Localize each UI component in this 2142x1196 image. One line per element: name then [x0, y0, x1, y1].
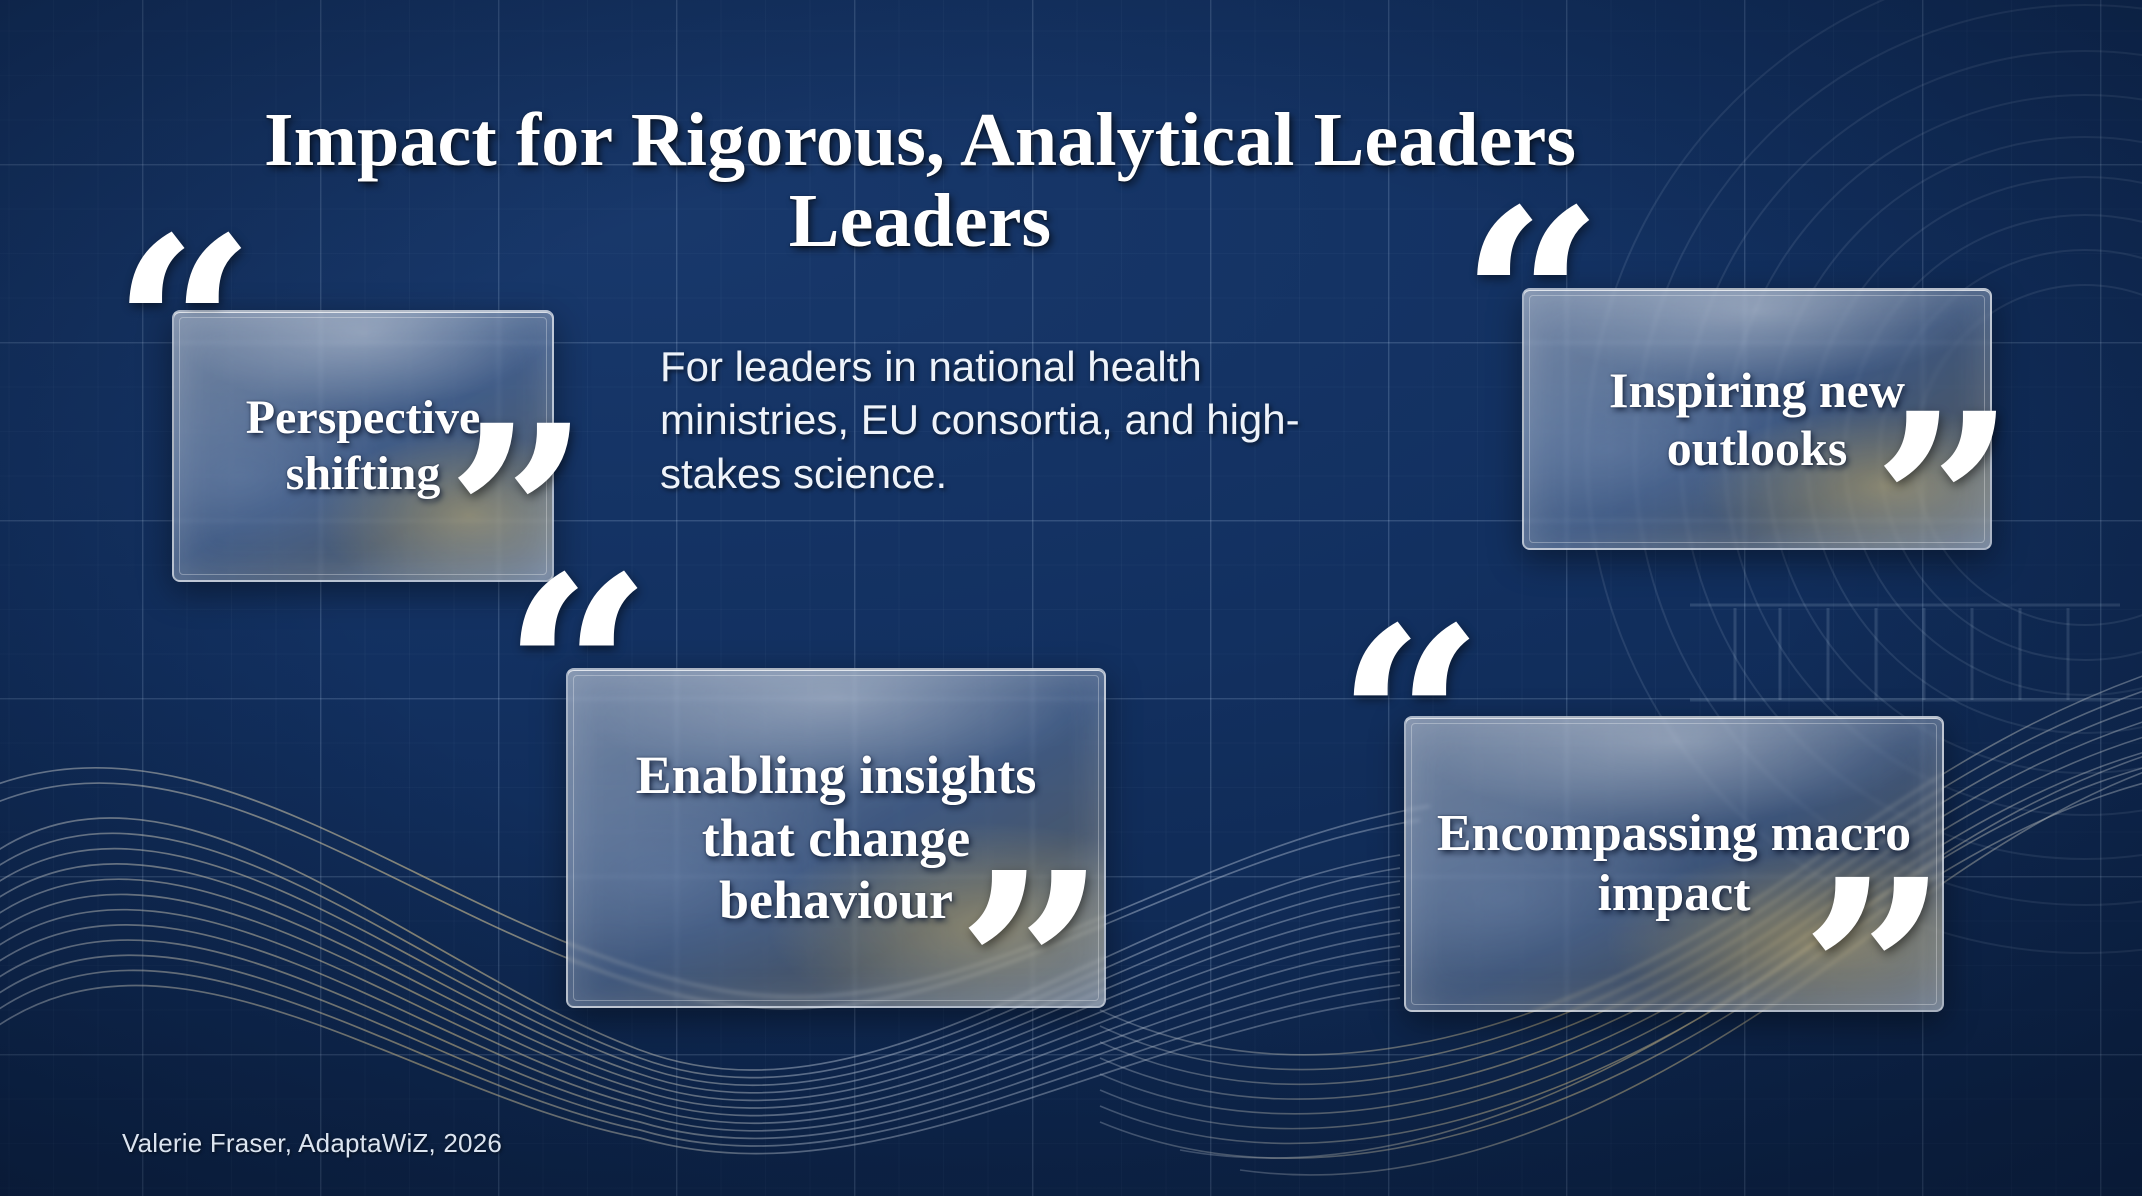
close-quote-icon: ” [956, 838, 1107, 1100]
quote-card-enabling-insights[interactable]: Enabling insights that change behaviour … [566, 668, 1106, 1008]
credit-line: Valerie Fraser, AdaptaWiZ, 2026 [122, 1128, 502, 1159]
slide-canvas: Impact for Rigorous, Analytical Leaders … [0, 0, 2142, 1196]
page-subtitle: For leaders in national health ministrie… [660, 340, 1360, 500]
quote-card-perspective-shifting[interactable]: Perspective shifting “ ” [172, 310, 554, 582]
open-quote-icon: “ [1460, 176, 1604, 426]
quote-card-encompassing-impact[interactable]: Encompassing macro impact “ ” [1404, 716, 1944, 1012]
close-quote-icon: ” [1872, 380, 2016, 630]
quote-card-inspiring-outlooks[interactable]: Inspiring new outlooks “ ” [1522, 288, 1992, 550]
open-quote-icon: “ [112, 204, 256, 454]
page-title-line-2: Leaders [789, 179, 1051, 263]
open-quote-icon: “ [502, 542, 653, 804]
close-quote-icon: ” [1800, 846, 1948, 1104]
page-title-line-1: Impact for Rigorous, Analytical Leaders [264, 98, 1576, 182]
open-quote-icon: “ [1336, 594, 1484, 852]
